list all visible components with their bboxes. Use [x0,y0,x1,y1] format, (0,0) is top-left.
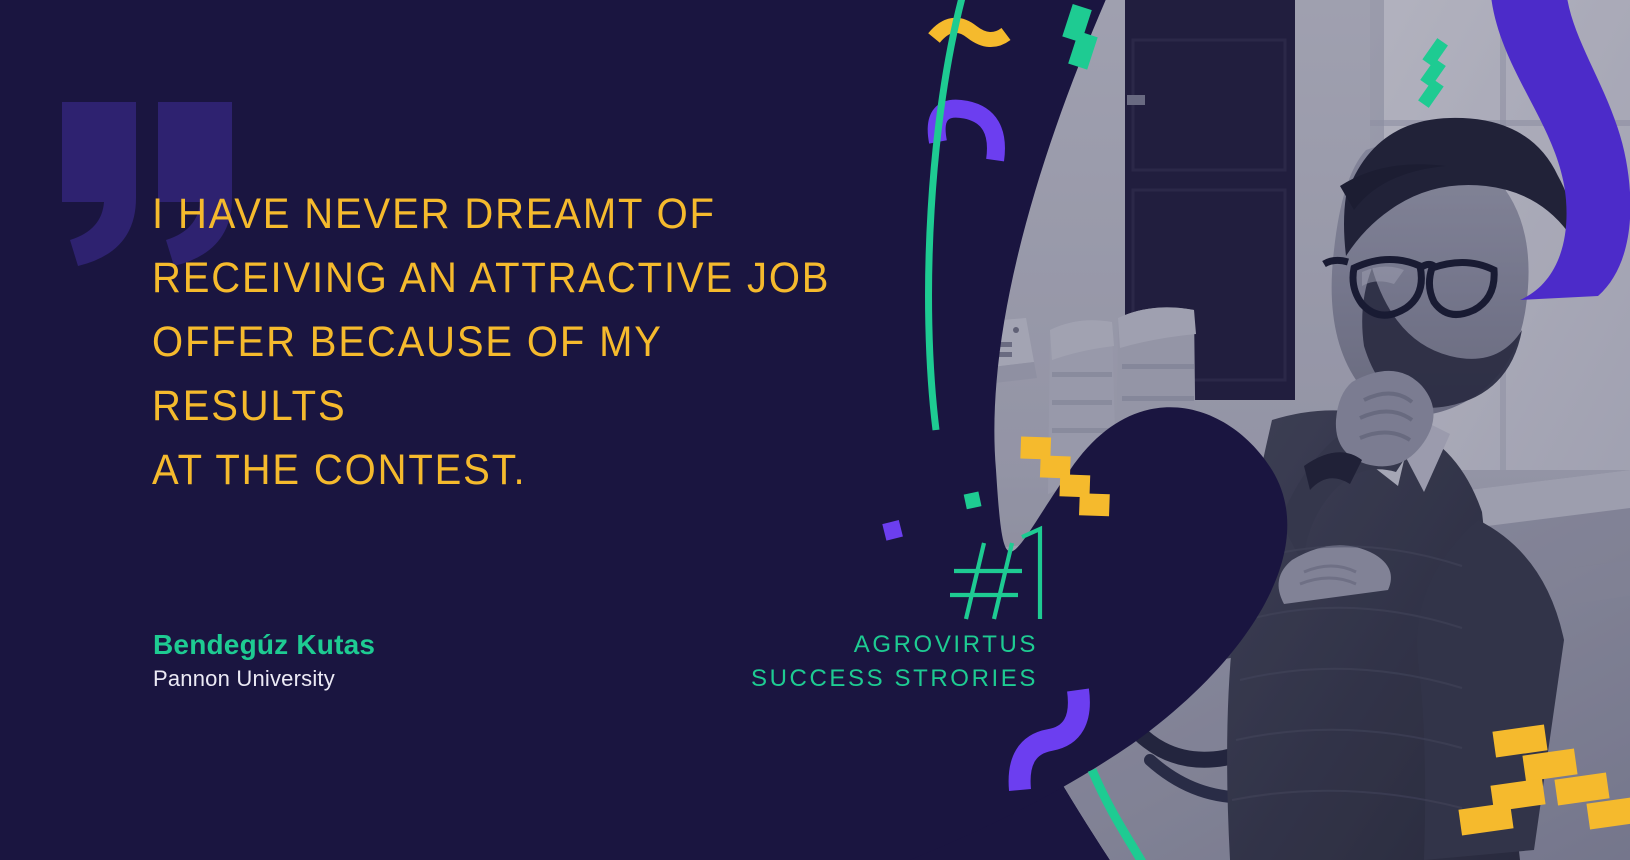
testimonial-slide: I HAVE NEVER DREAMT OF RECEIVING AN ATTR… [0,0,1630,860]
photo-region [900,0,1630,860]
author-organization: Pannon University [153,664,375,694]
quote-text: I HAVE NEVER DREAMT OF RECEIVING AN ATTR… [152,182,859,502]
series-number-hash-one-icon [940,515,1060,625]
series-label: AGROVIRTUS SUCCESS STRORIES [751,628,1038,696]
attribution: Bendegúz Kutas Pannon University [153,628,375,694]
author-name: Bendegúz Kutas [153,628,375,662]
photo-illustration [900,0,1630,860]
